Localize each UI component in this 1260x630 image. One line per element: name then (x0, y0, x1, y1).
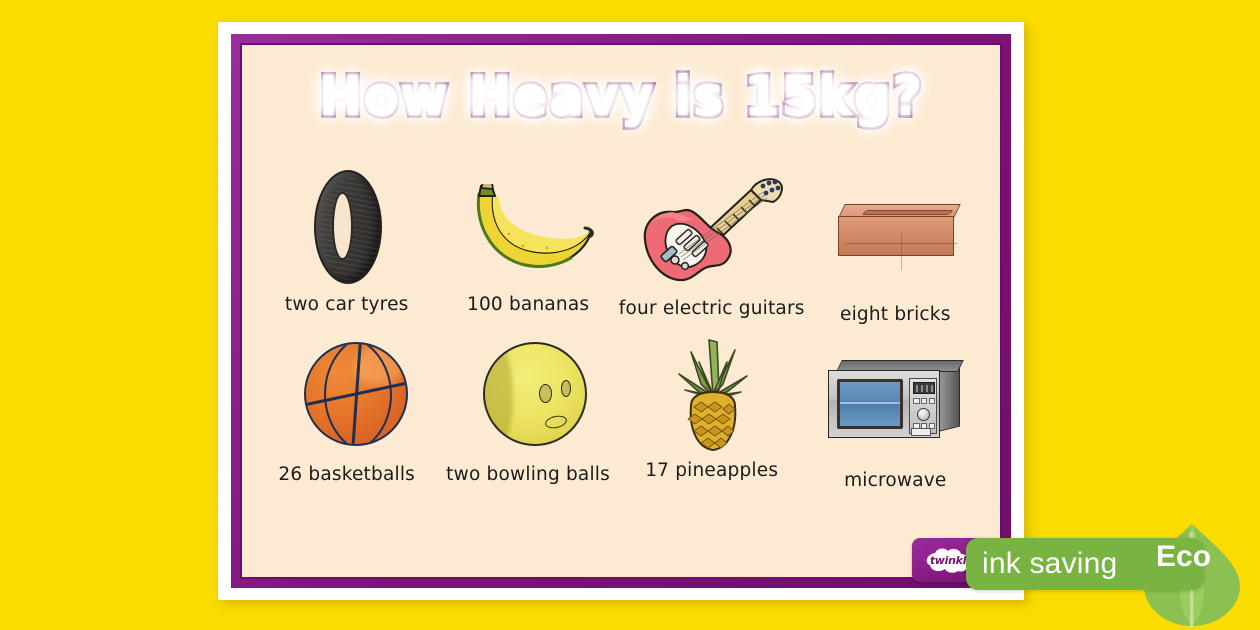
item-label: 26 basketballs (278, 464, 415, 485)
item-label: two car tyres (285, 294, 409, 315)
banana-icon (453, 168, 603, 286)
basketball-icon (272, 338, 422, 456)
car-tyre-icon (272, 168, 422, 286)
electric-guitar-icon (637, 168, 787, 286)
screenshot-canvas: How Heavy is 15kg? two car tyres (0, 0, 1260, 630)
item-label: two bowling balls (446, 464, 610, 485)
item-label: 17 pineapples (645, 460, 778, 481)
microwave-icon (820, 338, 970, 456)
poster-body: How Heavy is 15kg? two car tyres (242, 45, 1000, 577)
brick-icon (820, 168, 970, 286)
twinkl-cloud-icon: twinkl (923, 547, 973, 573)
item-electric-guitars: four electric guitars (619, 150, 805, 315)
twinkl-wordmark: twinkl (923, 547, 973, 573)
poster-title-wrap: How Heavy is 15kg? (242, 67, 1000, 127)
item-microwave: microwave (805, 315, 986, 485)
item-bowling-balls: two bowling balls (437, 315, 618, 485)
item-bricks: eight bricks (805, 150, 986, 315)
pineapple-icon (637, 338, 787, 456)
bowling-ball-icon (453, 338, 603, 456)
page-title: How Heavy is 15kg? (319, 65, 923, 129)
item-bananas: 100 bananas (437, 150, 618, 315)
item-label: 100 bananas (467, 294, 589, 315)
item-label: microwave (844, 470, 946, 491)
ink-saving-label: ink saving (982, 547, 1117, 581)
item-pineapples: 17 pineapples (619, 315, 805, 485)
item-basketballs: 26 basketballs (256, 315, 437, 485)
items-grid: two car tyres (256, 150, 986, 485)
item-car-tyres: two car tyres (256, 150, 437, 315)
eco-label: Eco (1156, 540, 1211, 574)
